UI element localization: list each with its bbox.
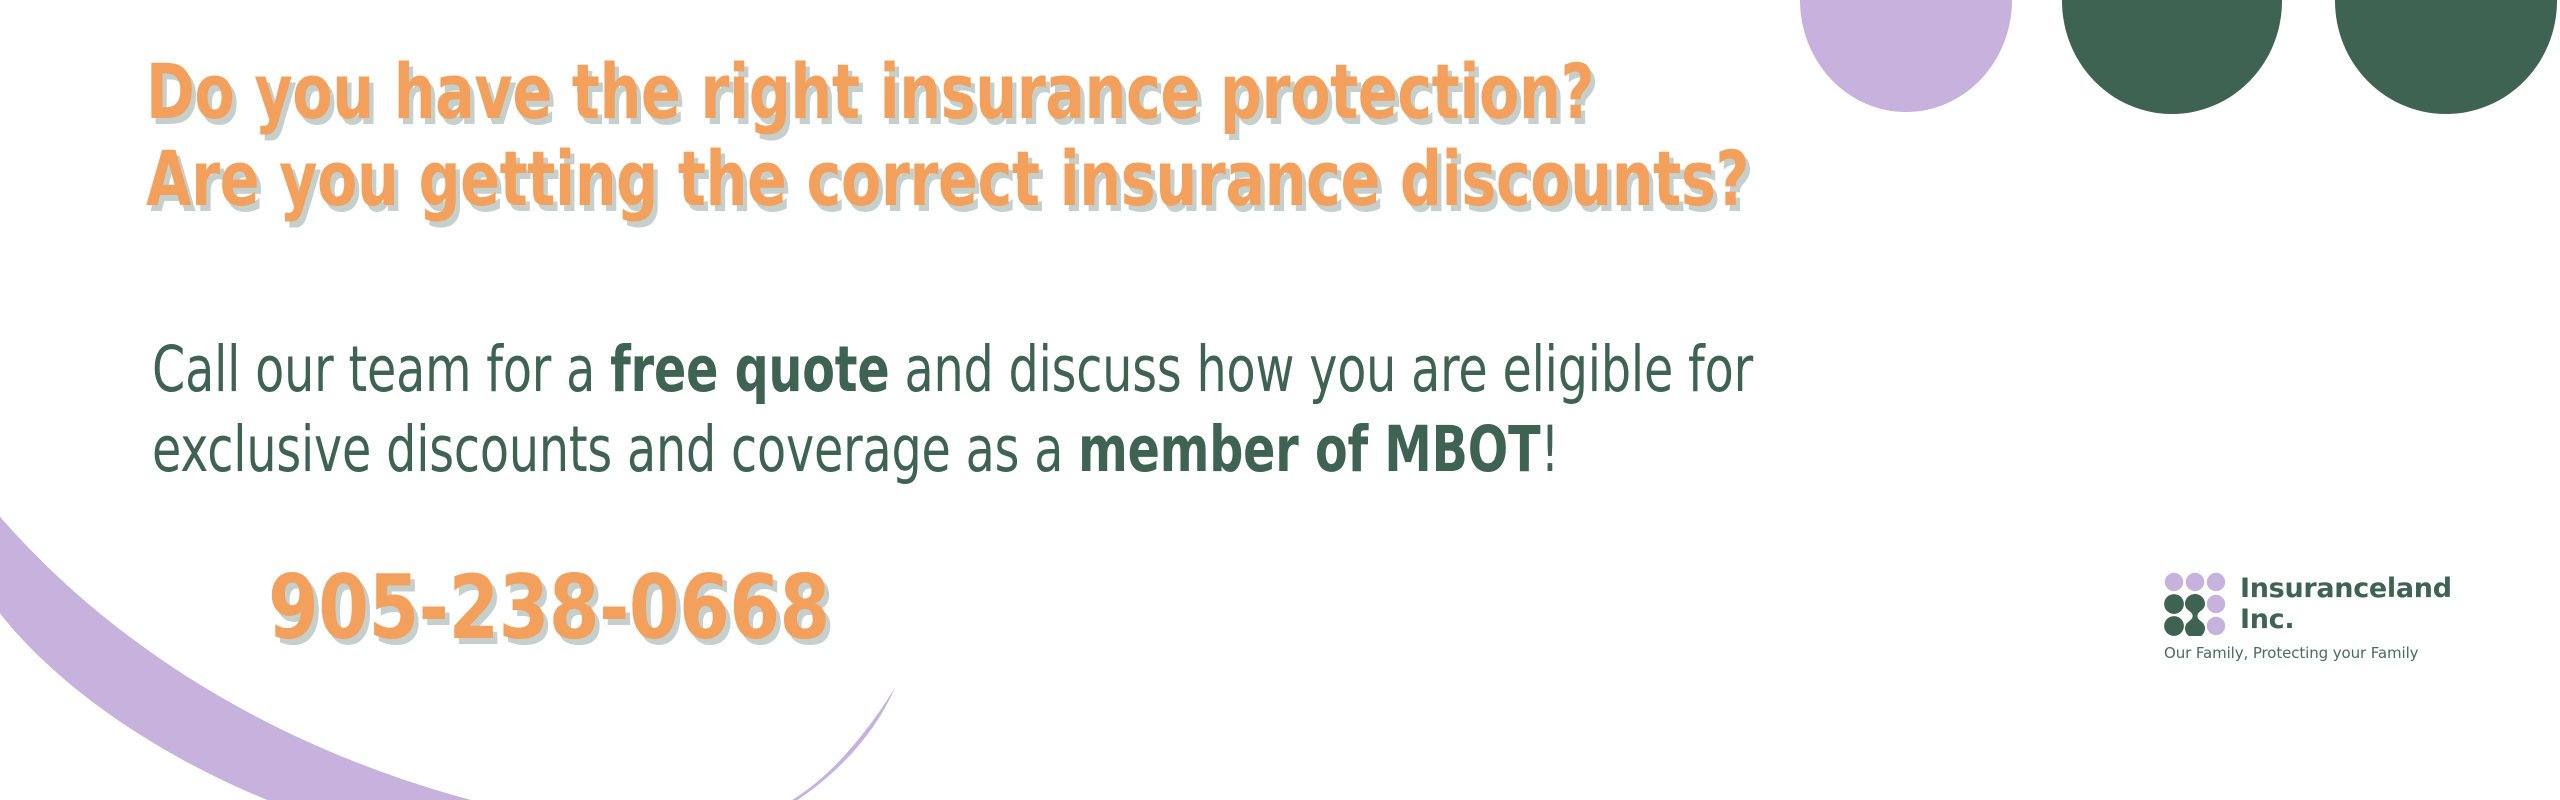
body-line-1: Call our team for a free quote and discu… bbox=[152, 330, 2084, 410]
logo-dot-r1c2 bbox=[2207, 595, 2225, 613]
logo-tagline: Our Family, Protecting your Family bbox=[2164, 644, 2494, 662]
logo-dot-r2c0 bbox=[2164, 616, 2184, 636]
purple-circle-decoration bbox=[1800, 0, 2012, 112]
logo-dot-r1c0 bbox=[2164, 594, 2184, 614]
body-line-2-text-after: ! bbox=[1540, 413, 1559, 486]
body-line-2-text-before: exclusive discounts and coverage as a bbox=[152, 413, 1078, 486]
logo-wordmark: Insuranceland Inc. bbox=[2240, 572, 2494, 636]
phone-number[interactable]: 905-238-0668 bbox=[268, 556, 830, 659]
headline: Do you have the right insurance protecti… bbox=[146, 48, 1749, 223]
green-circle-decoration-2 bbox=[2335, 0, 2557, 114]
logo-dot-r0c0 bbox=[2165, 573, 2183, 591]
body-line-1-text-after: and discuss how you are eligible for bbox=[890, 333, 1753, 406]
logo-wordmark-line-2: Inc. bbox=[2240, 604, 2494, 635]
insuranceland-dot-grid-icon bbox=[2164, 572, 2226, 636]
logo-dot-r2c2 bbox=[2207, 617, 2225, 635]
body-line-1-text-before: Call our team for a bbox=[152, 333, 610, 406]
logo-dot-r0c1 bbox=[2186, 573, 2204, 591]
logo-wordmark-line-1: Insuranceland bbox=[2240, 573, 2494, 604]
logo-dot-r0c2 bbox=[2207, 573, 2225, 591]
body-line-1-emphasis: free quote bbox=[610, 333, 889, 406]
insurance-banner: Do you have the right insurance protecti… bbox=[0, 0, 2560, 800]
headline-line-1: Do you have the right insurance protecti… bbox=[146, 48, 1749, 135]
insuranceland-logo[interactable]: Insuranceland Inc. Our Family, Protectin… bbox=[2164, 572, 2494, 662]
headline-line-2: Are you getting the correct insurance di… bbox=[146, 135, 1749, 222]
logo-dot-bridge-center bbox=[2185, 594, 2205, 636]
body-copy: Call our team for a free quote and discu… bbox=[152, 330, 2084, 490]
logo-row: Insuranceland Inc. bbox=[2164, 572, 2494, 636]
body-line-2: exclusive discounts and coverage as a me… bbox=[152, 410, 2084, 490]
body-line-2-emphasis: member of MBOT bbox=[1078, 413, 1540, 486]
green-circle-decoration-1 bbox=[2062, 0, 2282, 114]
